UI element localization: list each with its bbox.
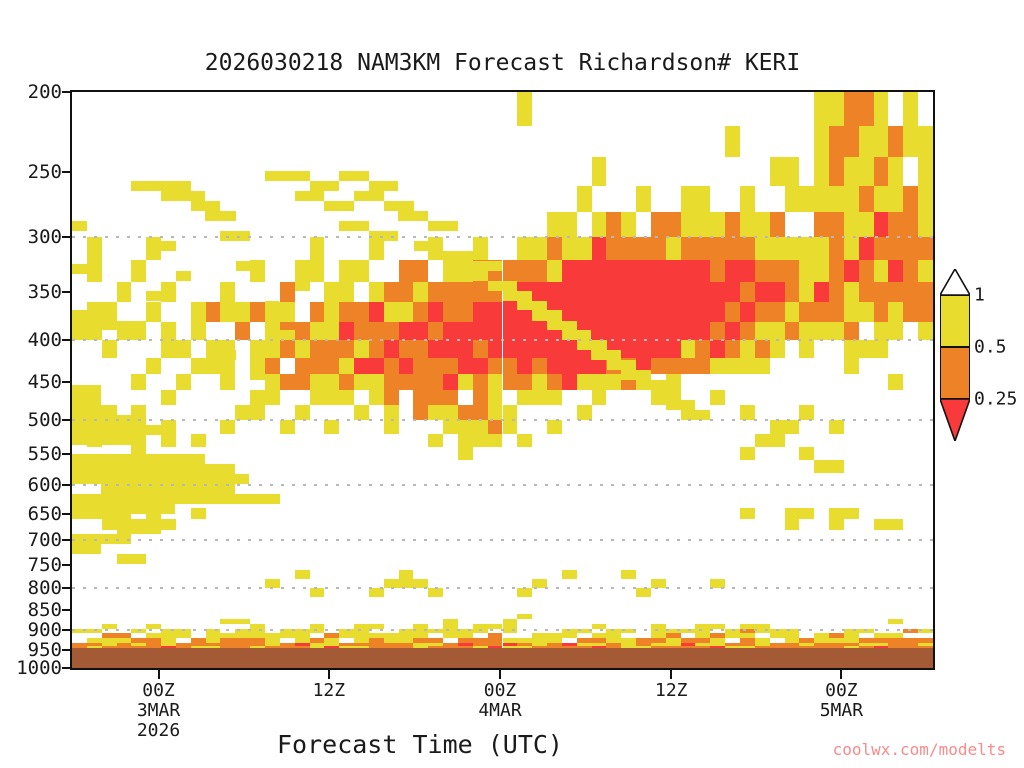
heatmap-cell bbox=[324, 322, 339, 340]
heatmap-cell bbox=[577, 260, 592, 282]
y-axis-tick bbox=[62, 649, 70, 651]
heatmap-cell bbox=[740, 260, 755, 282]
heatmap-cell bbox=[666, 282, 681, 302]
heatmap-cell bbox=[191, 322, 206, 340]
heatmap-cell bbox=[725, 302, 740, 321]
heatmap-cell bbox=[918, 186, 933, 213]
heatmap-cell bbox=[101, 484, 234, 494]
heatmap-cell bbox=[562, 374, 577, 390]
heatmap-cell bbox=[844, 92, 859, 126]
heatmap-cell bbox=[903, 92, 918, 126]
colorbar-segment bbox=[940, 295, 970, 347]
heatmap-cell bbox=[829, 157, 844, 186]
heatmap-cell bbox=[399, 570, 414, 579]
heatmap-cell bbox=[369, 588, 384, 597]
heatmap-cell bbox=[280, 340, 295, 357]
heatmap-cell bbox=[473, 302, 488, 321]
heatmap-cell bbox=[799, 508, 814, 519]
heatmap-cell bbox=[636, 237, 651, 260]
y-axis-tick-label: 1000 bbox=[16, 657, 62, 679]
heatmap-cell bbox=[651, 260, 666, 282]
heatmap-cell bbox=[562, 212, 577, 237]
heatmap-cell bbox=[829, 92, 844, 126]
heatmap-cell bbox=[918, 322, 933, 340]
y-axis-tick bbox=[62, 236, 70, 238]
heatmap-cell bbox=[369, 282, 384, 302]
heatmap-cell bbox=[473, 282, 488, 302]
heatmap-cell bbox=[280, 633, 295, 638]
heatmap-cell bbox=[354, 405, 369, 420]
heatmap-cell bbox=[72, 415, 146, 425]
heatmap-cell bbox=[710, 260, 725, 282]
heatmap-cell bbox=[265, 322, 280, 340]
heatmap-cell bbox=[844, 508, 859, 519]
y-axis-tick bbox=[62, 291, 70, 293]
y-axis-tick bbox=[62, 484, 70, 486]
heatmap-cell bbox=[740, 302, 755, 321]
y-axis-tick-label: 300 bbox=[28, 226, 62, 248]
colorbar-under-cap bbox=[940, 399, 970, 441]
chart-canvas: 2026030218 NAM3KM Forecast Richardson# K… bbox=[0, 0, 1024, 768]
heatmap-cell bbox=[918, 629, 933, 634]
heatmap-cell bbox=[413, 340, 428, 357]
heatmap-cell bbox=[324, 374, 339, 390]
heatmap-cell bbox=[636, 380, 666, 390]
heatmap-cell bbox=[369, 624, 384, 629]
heatmap-cell bbox=[428, 322, 443, 340]
x-axis-tick bbox=[328, 670, 330, 679]
y-axis-tick bbox=[62, 667, 70, 669]
colorbar-tick-label: 0.25 bbox=[974, 389, 1017, 410]
heatmap-cell bbox=[621, 212, 636, 237]
heatmap-cell bbox=[161, 282, 176, 302]
heatmap-cell bbox=[295, 340, 310, 357]
heatmap-cell bbox=[295, 281, 310, 291]
heatmap-cell bbox=[532, 374, 547, 390]
y-axis-tick-label: 700 bbox=[28, 529, 62, 551]
heatmap-cell bbox=[339, 390, 354, 405]
heatmap-cell bbox=[710, 340, 725, 357]
heatmap-cell bbox=[829, 282, 844, 302]
heatmap-cell bbox=[443, 302, 458, 321]
heatmap-cell bbox=[785, 420, 800, 434]
heatmap-cell bbox=[621, 302, 636, 321]
y-axis-tick bbox=[62, 171, 70, 173]
heatmap-cell bbox=[131, 434, 146, 448]
heatmap-cell bbox=[399, 260, 414, 282]
heatmap-cell bbox=[874, 126, 889, 157]
heatmap-cell bbox=[399, 340, 414, 357]
heatmap-cell bbox=[666, 322, 681, 340]
heatmap-cell bbox=[295, 358, 310, 375]
heatmap-cell bbox=[666, 358, 681, 375]
heatmap-cell bbox=[859, 212, 874, 237]
heatmap-cell bbox=[636, 322, 651, 340]
heatmap-cell bbox=[310, 302, 325, 321]
heatmap-cell bbox=[503, 260, 518, 282]
heatmap-cell bbox=[191, 434, 206, 448]
heatmap-cell bbox=[324, 390, 339, 405]
heatmap-cell bbox=[592, 624, 607, 629]
heatmap-cell bbox=[681, 629, 696, 634]
heatmap-cell bbox=[443, 405, 458, 420]
y-axis-tick-label: 850 bbox=[28, 599, 62, 621]
heatmap-cell bbox=[695, 322, 710, 340]
heatmap-cell bbox=[131, 629, 146, 634]
heatmap-cell bbox=[250, 302, 265, 321]
heatmap-cell bbox=[324, 282, 339, 302]
source-link[interactable]: coolwx.com/modelts bbox=[833, 740, 1006, 759]
heatmap-cell bbox=[265, 374, 280, 390]
heatmap-cell bbox=[770, 420, 785, 434]
heatmap-cell bbox=[740, 405, 755, 420]
heatmap-cell bbox=[547, 282, 562, 302]
heatmap-cell bbox=[755, 629, 770, 634]
heatmap-cell bbox=[888, 212, 903, 237]
heatmap-cell bbox=[814, 302, 829, 321]
heatmap-cell bbox=[310, 340, 325, 357]
heatmap-cell bbox=[903, 126, 918, 157]
heatmap-cell bbox=[606, 374, 621, 390]
heatmap-cell bbox=[339, 221, 369, 231]
heatmap-cell bbox=[591, 350, 621, 360]
heatmap-cell bbox=[443, 340, 458, 357]
heatmap-cell bbox=[220, 282, 235, 302]
heatmap-cell bbox=[799, 260, 814, 282]
heatmap-cell bbox=[161, 519, 176, 530]
heatmap-cell bbox=[666, 302, 681, 321]
heatmap-cell bbox=[577, 405, 592, 420]
heatmap-cell bbox=[785, 260, 800, 282]
heatmap-cell bbox=[592, 374, 607, 390]
heatmap-cell bbox=[131, 260, 146, 282]
heatmap-cell bbox=[517, 92, 532, 126]
heatmap-cell bbox=[206, 358, 221, 375]
heatmap-cell bbox=[844, 282, 859, 302]
heatmap-cell bbox=[176, 340, 191, 357]
heatmap-cell bbox=[146, 358, 161, 375]
heatmap-cell bbox=[770, 633, 785, 638]
heatmap-cell bbox=[161, 322, 176, 340]
heatmap-cell bbox=[488, 405, 503, 420]
heatmap-cell bbox=[829, 420, 844, 434]
heatmap-cell bbox=[874, 237, 889, 260]
heatmap-cell bbox=[547, 374, 562, 390]
heatmap-cell bbox=[725, 260, 740, 282]
heatmap-cell bbox=[770, 157, 785, 186]
heatmap-cell bbox=[339, 322, 354, 340]
heatmap-cell bbox=[799, 186, 814, 213]
heatmap-cell bbox=[354, 260, 369, 282]
heatmap-cell bbox=[488, 302, 503, 321]
heatmap-cell bbox=[681, 340, 696, 357]
heatmap-cell bbox=[695, 212, 710, 237]
heatmap-cell bbox=[428, 221, 457, 231]
heatmap-cell bbox=[324, 201, 354, 211]
heatmap-cell bbox=[918, 302, 933, 321]
heatmap-cell bbox=[606, 260, 621, 282]
heatmap-cell bbox=[844, 302, 859, 321]
heatmap-cell bbox=[295, 374, 310, 390]
heatmap-cell bbox=[577, 237, 592, 260]
heatmap-cell bbox=[117, 554, 146, 564]
heatmap-cell bbox=[517, 614, 532, 619]
heatmap-cell bbox=[785, 282, 800, 302]
colorbar-over-cap bbox=[940, 269, 970, 295]
heatmap-cell bbox=[740, 447, 755, 460]
heatmap-cell bbox=[755, 322, 770, 340]
heatmap-cell bbox=[814, 186, 829, 213]
heatmap-cell bbox=[740, 212, 755, 237]
heatmap-cell bbox=[310, 237, 325, 260]
y-axis-tick bbox=[62, 539, 70, 541]
heatmap-cell bbox=[458, 340, 473, 357]
heatmap-cell bbox=[458, 322, 473, 340]
heatmap-cell bbox=[918, 260, 933, 282]
heatmap-cell bbox=[310, 181, 339, 191]
heatmap-cell bbox=[473, 390, 488, 405]
heatmap-cell bbox=[428, 629, 443, 634]
heatmap-cell bbox=[473, 405, 488, 420]
heatmap-cell bbox=[755, 434, 770, 448]
heatmap-cell bbox=[577, 302, 592, 321]
heatmap-cell bbox=[503, 629, 518, 634]
heatmap-cell bbox=[799, 237, 814, 260]
heatmap-cell bbox=[755, 302, 770, 321]
heatmap-cell bbox=[310, 374, 325, 390]
heatmap-cell bbox=[413, 358, 428, 375]
heatmap-cell bbox=[621, 237, 636, 260]
heatmap-cell bbox=[888, 374, 903, 390]
heatmap-cell bbox=[72, 425, 175, 435]
heatmap-cell bbox=[681, 186, 696, 213]
heatmap-cell bbox=[725, 322, 740, 340]
x-axis-tick-label: 12Z bbox=[655, 681, 688, 701]
heatmap-cell bbox=[710, 358, 725, 375]
heatmap-cell bbox=[592, 390, 607, 405]
heatmap-cell bbox=[695, 282, 710, 302]
heatmap-cell bbox=[547, 390, 562, 405]
heatmap-cell bbox=[369, 340, 384, 357]
heatmap-cell bbox=[770, 282, 785, 302]
heatmap-cell bbox=[710, 237, 725, 260]
heatmap-cell bbox=[517, 260, 532, 282]
heatmap-cell bbox=[458, 405, 473, 420]
heatmap-cell bbox=[651, 302, 666, 321]
heatmap-cell bbox=[651, 358, 666, 375]
heatmap-cell bbox=[146, 237, 161, 260]
heatmap-cell bbox=[503, 302, 518, 321]
heatmap-cell bbox=[72, 464, 235, 474]
y-axis-tick bbox=[62, 629, 70, 631]
heatmap-cell bbox=[859, 340, 874, 357]
heatmap-cell bbox=[740, 508, 755, 519]
heatmap-cell bbox=[102, 340, 117, 357]
heatmap-cell bbox=[814, 212, 829, 237]
x-axis-tick-label: 00Z4MAR bbox=[478, 681, 521, 721]
heatmap-cell bbox=[532, 390, 547, 405]
heatmap-cell bbox=[888, 619, 903, 624]
heatmap-cell bbox=[681, 282, 696, 302]
heatmap-cell bbox=[473, 358, 488, 375]
heatmap-cell bbox=[280, 330, 295, 340]
heatmap-cell bbox=[488, 281, 517, 291]
heatmap-cell bbox=[161, 434, 176, 448]
heatmap-cell bbox=[503, 420, 518, 434]
heatmap-cell bbox=[903, 260, 918, 282]
heatmap-cell bbox=[681, 260, 696, 282]
y-axis: 2002503003504004505005506006507007508008… bbox=[0, 90, 70, 670]
heatmap-cell bbox=[799, 282, 814, 302]
heatmap-cell bbox=[606, 302, 621, 321]
heatmap-cell bbox=[547, 321, 576, 331]
heatmap-cell bbox=[443, 282, 458, 302]
heatmap-cell bbox=[443, 251, 473, 261]
heatmap-cell bbox=[428, 340, 443, 357]
heatmap-cell bbox=[814, 92, 829, 126]
heatmap-cell bbox=[844, 358, 859, 375]
heatmap-cell bbox=[888, 322, 903, 340]
x-axis-tick-label: 00Z5MAR bbox=[820, 681, 863, 721]
heatmap-cell bbox=[265, 390, 280, 405]
heatmap-cell bbox=[592, 212, 607, 237]
heatmap-cell bbox=[369, 302, 384, 321]
heatmap-cell bbox=[310, 358, 325, 375]
heatmap-cell bbox=[725, 358, 740, 375]
plot-area bbox=[70, 90, 935, 670]
heatmap-cell bbox=[473, 322, 488, 340]
heatmap-cell bbox=[503, 322, 518, 340]
heatmap-cell bbox=[161, 390, 176, 405]
heatmap-cell bbox=[503, 405, 518, 420]
heatmap-cell bbox=[770, 212, 785, 237]
heatmap-cell bbox=[384, 282, 399, 302]
heatmap-cell bbox=[191, 201, 220, 211]
heatmap-cell bbox=[621, 570, 636, 579]
heatmap-cell bbox=[725, 633, 740, 638]
y-axis-tick-label: 250 bbox=[28, 161, 62, 183]
heatmap-cell bbox=[903, 282, 918, 302]
heatmap-cell bbox=[87, 237, 102, 260]
heatmap-cell bbox=[681, 322, 696, 340]
heatmap-cell bbox=[681, 302, 696, 321]
heatmap-cell bbox=[829, 237, 844, 260]
heatmap-cell bbox=[710, 624, 725, 629]
heatmap-cell bbox=[918, 212, 933, 237]
heatmap-cell bbox=[621, 322, 636, 340]
heatmap-cell bbox=[755, 358, 770, 375]
heatmap-cell bbox=[369, 358, 384, 375]
heatmap-cell bbox=[473, 434, 488, 448]
heatmap-cell bbox=[755, 237, 770, 260]
colorbar-segment bbox=[940, 347, 970, 399]
heatmap-cell bbox=[220, 302, 235, 321]
y-axis-tick-label: 450 bbox=[28, 371, 62, 393]
heatmap-cell bbox=[770, 260, 785, 282]
heatmap-cell bbox=[562, 282, 577, 302]
heatmap-cell bbox=[413, 260, 428, 282]
heatmap-cell bbox=[443, 358, 458, 375]
heatmap-cell bbox=[785, 186, 800, 213]
heatmap-cell bbox=[666, 340, 681, 357]
heatmap-cell bbox=[725, 282, 740, 302]
heatmap-cell bbox=[562, 358, 577, 375]
heatmap-cell bbox=[310, 588, 325, 597]
heatmap-cell bbox=[191, 358, 206, 375]
heatmap-cell bbox=[532, 237, 547, 260]
heatmap-cell bbox=[369, 374, 384, 390]
heatmap-cell bbox=[577, 186, 592, 213]
heatmap-cell bbox=[859, 260, 874, 282]
heatmap-cell bbox=[399, 374, 414, 390]
heatmap-cell bbox=[265, 171, 310, 181]
heatmap-cell bbox=[72, 544, 101, 554]
heatmap-cell bbox=[725, 126, 740, 157]
heatmap-cell bbox=[250, 390, 265, 405]
heatmap-cell bbox=[176, 374, 191, 390]
heatmap-cell bbox=[117, 282, 132, 302]
heatmap-cell bbox=[681, 358, 696, 375]
heatmap-cell bbox=[235, 302, 250, 321]
heatmap-cell bbox=[874, 340, 889, 357]
heatmap-cell bbox=[695, 237, 710, 260]
heatmap-cell bbox=[369, 181, 398, 191]
heatmap-cell bbox=[72, 264, 90, 274]
heatmap-cell bbox=[369, 322, 384, 340]
heatmap-cell bbox=[651, 390, 681, 400]
heatmap-cell bbox=[191, 508, 206, 519]
heatmap-cell bbox=[428, 434, 443, 448]
heatmap-cell bbox=[295, 260, 310, 282]
heatmap-cell bbox=[235, 619, 250, 624]
heatmap-cell bbox=[814, 260, 829, 282]
heatmap-cell bbox=[295, 570, 310, 579]
colorbar-legend: 10.50.25 bbox=[940, 295, 970, 455]
heatmap-cell bbox=[681, 410, 710, 420]
heatmap-cell bbox=[117, 524, 161, 534]
heatmap-cell bbox=[577, 358, 592, 375]
y-axis-tick bbox=[62, 453, 70, 455]
heatmap-cell bbox=[72, 494, 280, 504]
heatmap-cell bbox=[740, 358, 755, 375]
heatmap-cell bbox=[102, 624, 117, 629]
heatmap-cell bbox=[488, 340, 503, 357]
heatmap-cell bbox=[770, 434, 785, 448]
heatmap-cell bbox=[87, 629, 102, 634]
heatmap-cell bbox=[829, 460, 844, 473]
heatmap-cell bbox=[888, 126, 903, 157]
heatmap-cell bbox=[310, 261, 325, 271]
heatmap-cell bbox=[458, 447, 473, 460]
heatmap-cell bbox=[621, 282, 636, 302]
heatmap-cell bbox=[517, 237, 532, 260]
heatmap-cell bbox=[265, 579, 280, 588]
heatmap-cell bbox=[740, 282, 755, 302]
heatmap-cell bbox=[592, 260, 607, 282]
heatmap-cell bbox=[547, 420, 562, 434]
heatmap-cell bbox=[443, 374, 458, 390]
heatmap-cell bbox=[621, 260, 636, 282]
heatmap-cell bbox=[443, 633, 458, 638]
heatmap-cell bbox=[413, 405, 428, 420]
heatmap-cell bbox=[532, 322, 547, 340]
heatmap-cell bbox=[131, 181, 190, 191]
heatmap-cell bbox=[562, 237, 577, 260]
heatmap-cell bbox=[443, 420, 458, 434]
heatmap-cell bbox=[785, 322, 800, 340]
heatmap-cell bbox=[606, 212, 621, 237]
heatmap-cell bbox=[265, 301, 280, 311]
